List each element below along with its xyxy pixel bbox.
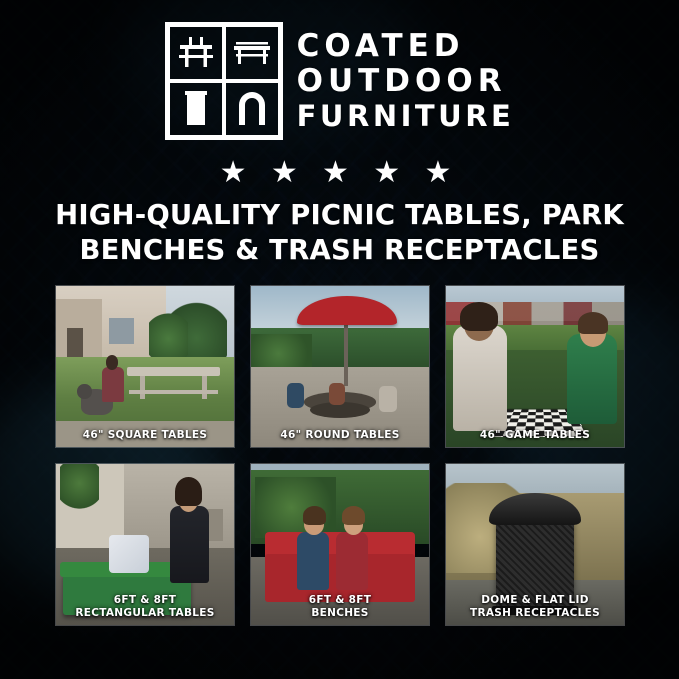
page-title: HIGH-QUALITY PICNIC TABLES, PARK BENCHES… bbox=[0, 198, 679, 268]
product-tile-rectangular-tables[interactable]: 6FT & 8FT RECTANGULAR TABLES bbox=[55, 463, 235, 626]
product-caption: 46" ROUND TABLES bbox=[251, 424, 429, 447]
product-tile-round-tables[interactable]: 46" ROUND TABLES bbox=[250, 285, 430, 448]
trash-receptacle-icon bbox=[168, 81, 224, 137]
caption-line-2: RECTANGULAR TABLES bbox=[60, 607, 230, 619]
star-rating: ★ ★ ★ ★ ★ bbox=[0, 158, 679, 188]
caption-line-1: 6FT & 8FT bbox=[255, 594, 425, 606]
caption-line-1: 46" GAME TABLES bbox=[450, 429, 620, 441]
poster-content: COATED OUTDOOR FURNITURE ★ ★ ★ ★ ★ HIGH-… bbox=[0, 0, 679, 679]
caption-line-1: 46" SQUARE TABLES bbox=[60, 429, 230, 441]
brand-name-line-2: OUTDOOR bbox=[297, 65, 515, 98]
star-rating-glyphs: ★ ★ ★ ★ ★ bbox=[220, 158, 460, 188]
caption-line-1: 46" ROUND TABLES bbox=[255, 429, 425, 441]
caption-line-1: DOME & FLAT LID bbox=[450, 594, 620, 606]
product-caption: 6FT & 8FT RECTANGULAR TABLES bbox=[56, 589, 234, 625]
brand-logo: COATED OUTDOOR FURNITURE bbox=[0, 22, 679, 140]
caption-line-2: BENCHES bbox=[255, 607, 425, 619]
caption-line-2: TRASH RECEPTACLES bbox=[450, 607, 620, 619]
product-poster: COATED OUTDOOR FURNITURE ★ ★ ★ ★ ★ HIGH-… bbox=[0, 0, 679, 679]
product-tile-trash-receptacles[interactable]: DOME & FLAT LID TRASH RECEPTACLES bbox=[445, 463, 625, 626]
brand-name-line-3: FURNITURE bbox=[297, 101, 515, 132]
product-tile-game-tables[interactable]: 46" GAME TABLES bbox=[445, 285, 625, 448]
caption-line-1: 6FT & 8FT bbox=[60, 594, 230, 606]
picnic-table-icon bbox=[168, 25, 224, 81]
product-tile-square-tables[interactable]: 46" SQUARE TABLES bbox=[55, 285, 235, 448]
product-caption: DOME & FLAT LID TRASH RECEPTACLES bbox=[446, 589, 624, 625]
product-grid: 46" SQUARE TABLES bbox=[55, 285, 625, 626]
product-caption: 6FT & 8FT BENCHES bbox=[251, 589, 429, 625]
product-caption: 46" SQUARE TABLES bbox=[56, 424, 234, 447]
logo-icon-grid bbox=[165, 22, 283, 140]
product-tile-benches[interactable]: 6FT & 8FT BENCHES bbox=[250, 463, 430, 626]
product-caption: 46" GAME TABLES bbox=[446, 424, 624, 447]
headline-line-1: HIGH-QUALITY PICNIC TABLES, PARK bbox=[55, 199, 624, 231]
brand-name: COATED OUTDOOR FURNITURE bbox=[297, 30, 515, 132]
arch-trash-can-icon bbox=[224, 81, 280, 137]
brand-name-line-1: COATED bbox=[297, 30, 515, 63]
headline-line-2: BENCHES & TRASH RECEPTACLES bbox=[22, 233, 657, 268]
park-bench-icon bbox=[224, 25, 280, 81]
